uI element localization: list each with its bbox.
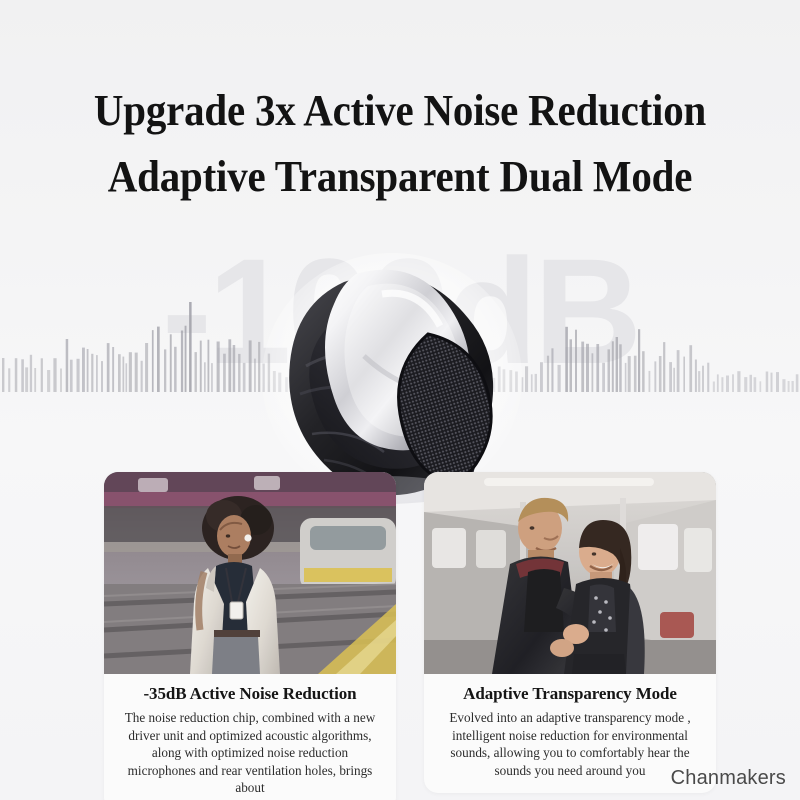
feature-card-transparency-description: Evolved into an adaptive transparency mo… bbox=[439, 709, 701, 779]
feature-card-transparency[interactable]: Adaptive Transparency Mode Evolved into … bbox=[424, 472, 716, 793]
product-marketing-page: -100dB bbox=[0, 0, 800, 800]
feature-card-anc-body: -35dB Active Noise Reduction The noise r… bbox=[104, 674, 396, 800]
feature-card-transparency-title: Adaptive Transparency Mode bbox=[436, 683, 704, 705]
brand-watermark: Chanmakers bbox=[671, 767, 786, 790]
feature-card-anc[interactable]: -35dB Active Noise Reduction The noise r… bbox=[104, 472, 396, 800]
couple-on-subway-photo bbox=[424, 472, 716, 674]
feature-card-anc-title: -35dB Active Noise Reduction bbox=[116, 683, 384, 705]
feature-card-anc-description: The noise reduction chip, combined with … bbox=[119, 709, 381, 797]
headline-line-2: Adaptive Transparent Dual Mode bbox=[28, 144, 772, 210]
page-headline: Upgrade 3x Active Noise Reduction Adapti… bbox=[0, 78, 800, 210]
headline-line-1: Upgrade 3x Active Noise Reduction bbox=[28, 78, 772, 144]
feature-cards-row: -35dB Active Noise Reduction The noise r… bbox=[0, 472, 800, 800]
woman-on-train-platform-photo bbox=[104, 472, 396, 674]
